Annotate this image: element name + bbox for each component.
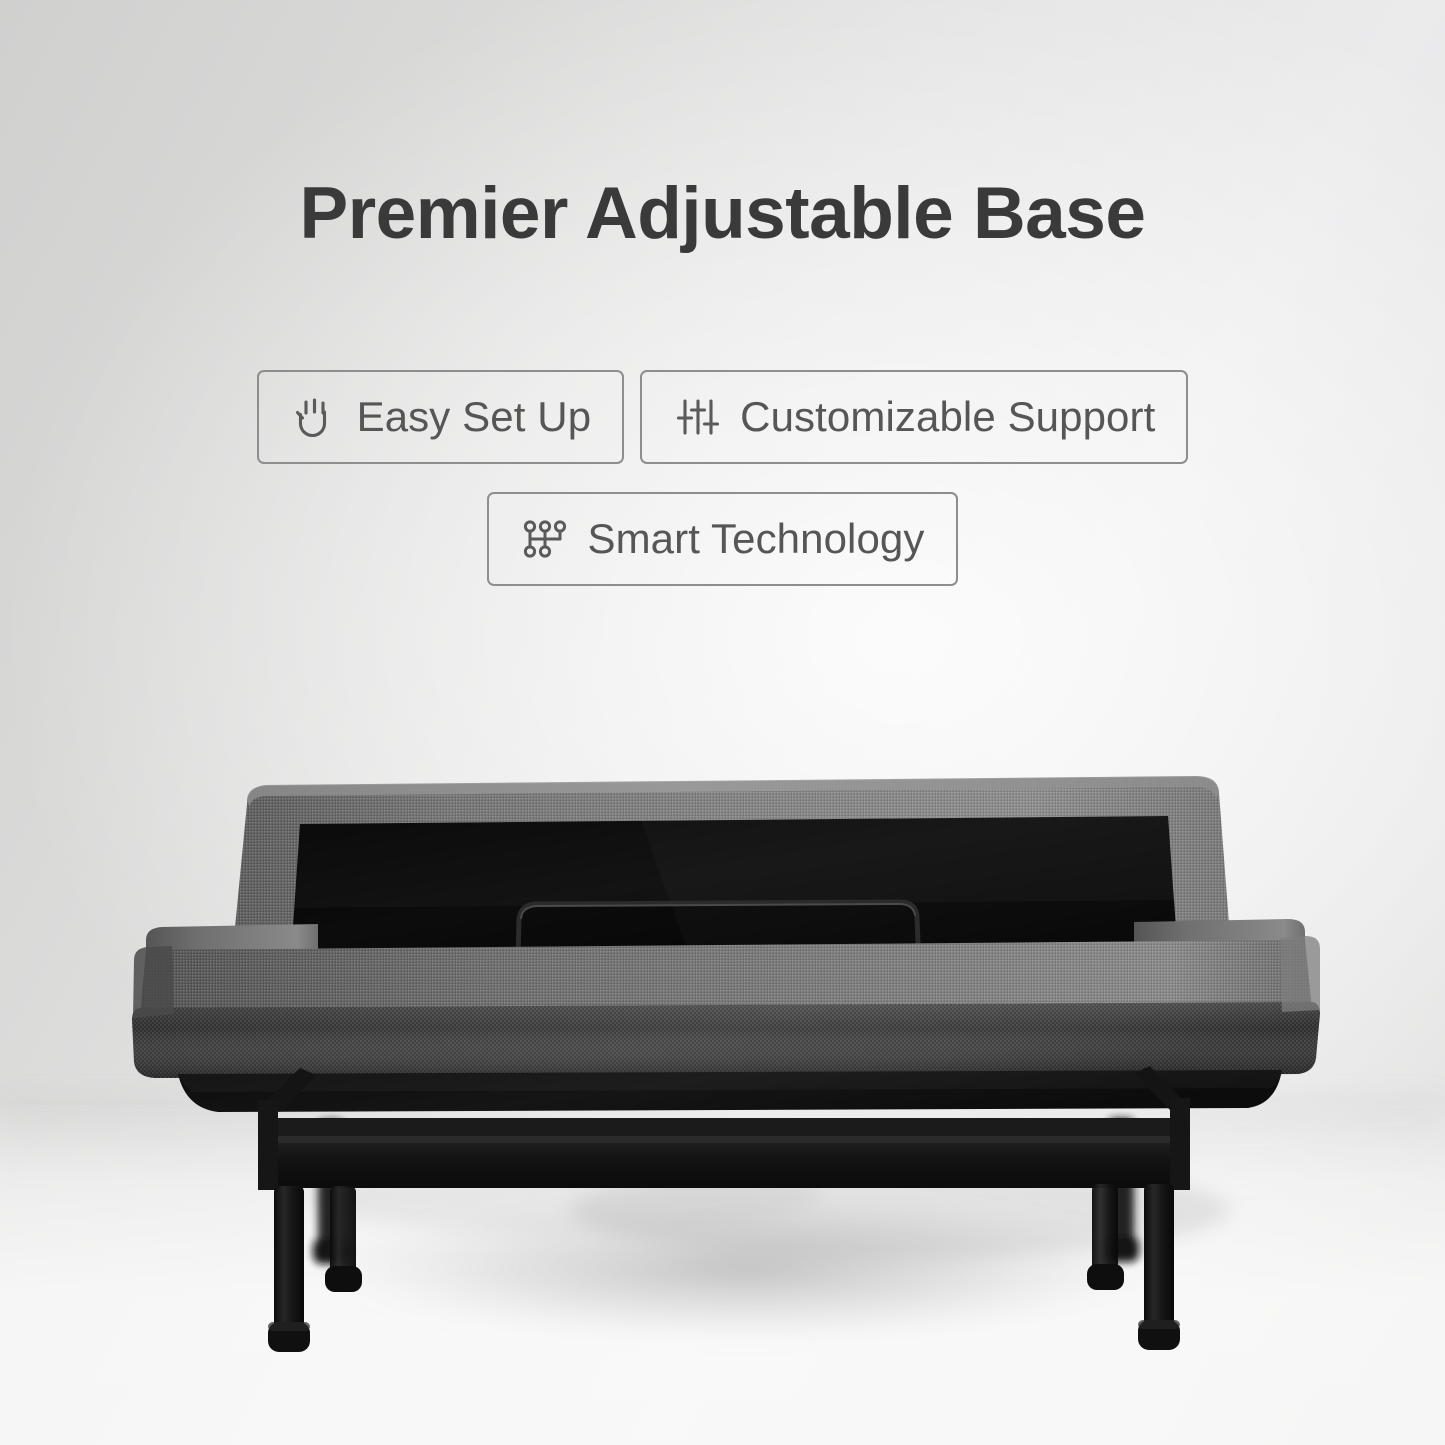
- rear-legs: [313, 1118, 1139, 1264]
- legs: [268, 1184, 1180, 1352]
- feature-badge-easy-set-up[interactable]: Easy Set Up: [257, 370, 625, 464]
- floor-shadow: [300, 1157, 1230, 1342]
- floor-wall-seam: [0, 1100, 1445, 1190]
- network-nodes-icon: [520, 514, 570, 564]
- product-hero-banner: Premier Adjustable Base Easy Set Up: [0, 0, 1445, 1445]
- sliders-icon: [673, 392, 723, 442]
- feature-badge-label: Smart Technology: [587, 515, 924, 563]
- hand-icon: [290, 392, 340, 442]
- page-title: Premier Adjustable Base: [0, 172, 1445, 255]
- mattress-deck: [186, 944, 1262, 1012]
- retainer-bar: [517, 902, 920, 995]
- feature-badge-label: Customizable Support: [740, 393, 1155, 441]
- feature-badge-smart-technology[interactable]: Smart Technology: [487, 492, 957, 586]
- steel-frame: [258, 1066, 1190, 1190]
- retainer-bar-highlight: [521, 904, 915, 918]
- head-section: [228, 776, 1235, 1002]
- base-skirt: [178, 1070, 1282, 1112]
- feature-badge-row-2: Smart Technology: [0, 492, 1445, 586]
- feature-badge-customizable-support[interactable]: Customizable Support: [640, 370, 1188, 464]
- feature-badge-row-1: Easy Set Up Customi: [0, 370, 1445, 464]
- feature-badge-label: Easy Set Up: [357, 393, 592, 441]
- upholstered-platform: [132, 919, 1320, 1078]
- floor-plane: [0, 1105, 1445, 1445]
